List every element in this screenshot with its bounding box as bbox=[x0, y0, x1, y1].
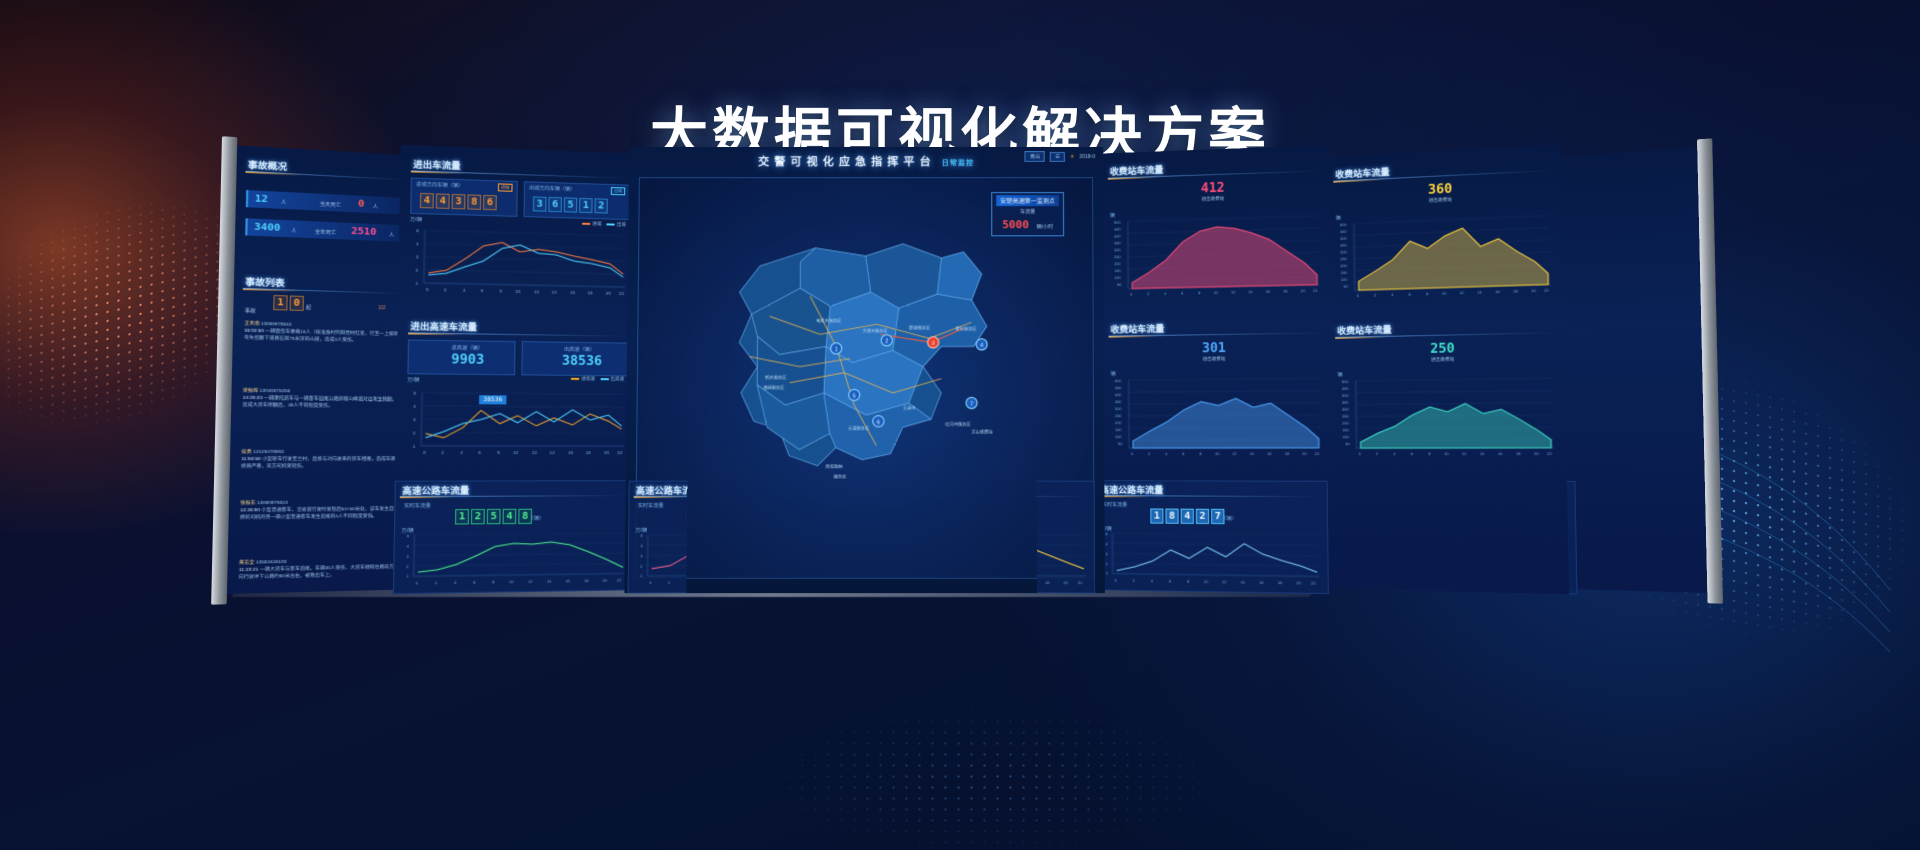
svg-text:20: 20 bbox=[1296, 580, 1302, 585]
svg-text:5: 5 bbox=[853, 393, 856, 399]
menu-chip[interactable]: ☰ bbox=[1050, 152, 1065, 162]
svg-text:5: 5 bbox=[416, 228, 419, 233]
inbound-counter: 进城方向车辆（辆） 进城 4 4 3 8 6 bbox=[410, 177, 518, 216]
inout-vehicle-flow-card: 进出车流量 进城方向车辆（辆） 进城 4 4 3 8 6 出城方向车辆（辆） bbox=[404, 155, 632, 313]
year-accident-unit: 人 bbox=[291, 227, 297, 234]
svg-text:14: 14 bbox=[547, 578, 553, 583]
map-label: 鹤庆服务区 bbox=[765, 374, 786, 380]
year-accident-count: 3400 bbox=[254, 222, 281, 234]
svg-text:400: 400 bbox=[1340, 236, 1348, 241]
toll-station-title: 收费站车流量 bbox=[1337, 323, 1392, 337]
today-accident-count: 12 bbox=[255, 193, 268, 205]
svg-text:150: 150 bbox=[1115, 427, 1122, 432]
svg-text:22: 22 bbox=[619, 291, 625, 296]
svg-text:0: 0 bbox=[649, 580, 652, 585]
svg-text:18: 18 bbox=[1513, 288, 1518, 293]
accident-text: 一辆摩托货车与一辆客车追尾公路斜坡山峰道对边发生侧翻，造成大货车侧翻后，38人不… bbox=[242, 395, 396, 408]
svg-text:3: 3 bbox=[640, 553, 643, 558]
svg-text:22: 22 bbox=[617, 450, 623, 455]
toll-station-value: 412 bbox=[1104, 177, 1324, 199]
accident-phone: 13553426193 bbox=[256, 559, 287, 565]
svg-text:100: 100 bbox=[1114, 275, 1121, 280]
svg-text:2: 2 bbox=[1133, 578, 1135, 583]
accident-time: 12:25:50 bbox=[240, 507, 260, 512]
svg-text:4: 4 bbox=[463, 288, 466, 293]
svg-text:450: 450 bbox=[1114, 227, 1121, 232]
svg-text:2: 2 bbox=[640, 564, 643, 569]
svg-text:20: 20 bbox=[1302, 451, 1308, 456]
highway-flow-chart: 5 4 3 2 1 024 6810 121416 182022 bbox=[406, 386, 628, 466]
svg-text:0: 0 bbox=[1115, 578, 1118, 583]
svg-text:200: 200 bbox=[1342, 420, 1350, 425]
accident-count-label: 事故 bbox=[245, 308, 256, 314]
svg-text:10: 10 bbox=[1213, 290, 1218, 295]
svg-text:250: 250 bbox=[1340, 256, 1348, 261]
svg-text:150: 150 bbox=[1340, 270, 1348, 275]
svg-text:14: 14 bbox=[551, 290, 557, 295]
svg-text:350: 350 bbox=[1115, 399, 1122, 404]
vehicle-flow-chart: 5 4 3 2 1 024 6810 121416 182022 bbox=[409, 224, 630, 307]
accident-time: 11:10:21 bbox=[239, 567, 259, 573]
accident-text: 一辆面包车乘载15人（核准备村列阳党村红星，行至一上坡转弯失控翻下道路石岗75米… bbox=[244, 328, 399, 342]
video-wall: 事故概况 12 人 当天死亡 0 人 3400 人 全年死亡 2510 人 bbox=[238, 150, 1698, 590]
svg-text:16: 16 bbox=[570, 290, 576, 295]
svg-text:2: 2 bbox=[413, 430, 416, 435]
svg-text:18: 18 bbox=[1516, 451, 1521, 456]
date-label: 2018-0 bbox=[1079, 154, 1095, 160]
svg-text:0: 0 bbox=[1131, 451, 1134, 456]
map-label: 甸尾乡服务区 bbox=[816, 317, 841, 323]
toll-station-card-1: 收费站车流量 412 进出收费站 辆 50 bbox=[1104, 155, 1326, 313]
svg-text:20: 20 bbox=[1063, 580, 1068, 585]
svg-text:18: 18 bbox=[1278, 580, 1284, 585]
svg-text:8: 8 bbox=[492, 579, 495, 584]
svg-text:3: 3 bbox=[416, 254, 419, 259]
svg-text:4: 4 bbox=[1393, 451, 1396, 456]
svg-text:8: 8 bbox=[1426, 291, 1428, 296]
online-rate-item-bus[interactable]: 80% 在线率 班线客车 50000 bbox=[1331, 504, 1405, 588]
svg-text:4: 4 bbox=[640, 543, 643, 548]
online-rate-name: 班线客车 bbox=[1332, 574, 1405, 582]
svg-text:20: 20 bbox=[1531, 288, 1537, 293]
toll-station-readout: 301 进出收费站 bbox=[1105, 340, 1327, 364]
list-item[interactable]: 黄志全 13553426193 11:10:21 一辆大货车与客车追尾。车辆30… bbox=[239, 556, 395, 581]
svg-text:3: 3 bbox=[932, 341, 935, 347]
panel-group-left-outer: 事故概况 12 人 当天死亡 0 人 3400 人 全年死亡 2510 人 bbox=[225, 145, 416, 594]
accident-time: 14:25:23 bbox=[243, 395, 263, 400]
highway-flow-chart-4: 54 321 02 468 101214 161820 22 bbox=[1098, 531, 1323, 591]
svg-text:50: 50 bbox=[1344, 284, 1349, 289]
svg-text:1: 1 bbox=[835, 347, 838, 353]
svg-text:6: 6 bbox=[481, 288, 484, 293]
svg-text:4: 4 bbox=[1391, 292, 1394, 297]
today-death-label: 当天死亡 bbox=[320, 201, 341, 209]
highway-flow-unit: （辆） bbox=[1221, 515, 1236, 522]
svg-text:16: 16 bbox=[1498, 451, 1503, 456]
svg-text:2: 2 bbox=[1106, 561, 1108, 566]
svg-text:6: 6 bbox=[1181, 290, 1184, 295]
highway-flow-digits: 12 54 8 bbox=[455, 509, 532, 525]
svg-text:10: 10 bbox=[515, 289, 521, 294]
today-death-unit: 人 bbox=[373, 203, 378, 210]
toll-station-card-2: 收费站车流量 360 进出收费站 辆 50 bbox=[1329, 155, 1557, 315]
svg-text:50: 50 bbox=[1118, 441, 1123, 446]
svg-text:8: 8 bbox=[1428, 451, 1430, 456]
year-death-label: 全年死亡 bbox=[315, 228, 337, 236]
svg-text:5: 5 bbox=[407, 533, 410, 538]
svg-text:2: 2 bbox=[1374, 293, 1376, 298]
svg-text:150: 150 bbox=[1342, 427, 1350, 432]
svg-text:200: 200 bbox=[1340, 263, 1348, 268]
svg-text:350: 350 bbox=[1114, 240, 1121, 245]
svg-text:6: 6 bbox=[877, 420, 880, 426]
svg-text:2: 2 bbox=[885, 339, 888, 345]
map-label: 西双版纳 bbox=[826, 463, 843, 469]
svg-text:450: 450 bbox=[1340, 229, 1348, 234]
toll-station-title: 收费站车流量 bbox=[1110, 322, 1164, 336]
svg-text:14: 14 bbox=[1480, 451, 1486, 456]
topbar: 南山 ☰ ☀ 2018-0 bbox=[1025, 151, 1095, 162]
svg-text:3: 3 bbox=[413, 417, 416, 422]
highway-metric-label: 实时车流量 bbox=[638, 502, 664, 509]
svg-text:8: 8 bbox=[500, 288, 503, 293]
svg-text:18: 18 bbox=[1283, 288, 1288, 293]
svg-text:1: 1 bbox=[640, 573, 643, 578]
svg-text:2: 2 bbox=[1376, 451, 1378, 456]
svg-text:50: 50 bbox=[1117, 282, 1122, 287]
map-label: 楚雄服务区 bbox=[909, 324, 930, 330]
svg-text:250: 250 bbox=[1114, 254, 1121, 259]
accident-text: 一辆大货车与客车追尾。车辆30人受伤，大货车继续往路段方向行驶冲下公路约60米左… bbox=[239, 564, 394, 580]
svg-text:300: 300 bbox=[1342, 407, 1350, 412]
inbound-label: 进城方向车辆（辆） bbox=[416, 181, 464, 190]
mode-badge[interactable]: 日常监控 bbox=[942, 159, 974, 167]
svg-text:3: 3 bbox=[1105, 551, 1108, 556]
svg-text:18: 18 bbox=[1285, 451, 1290, 456]
svg-text:250: 250 bbox=[1342, 414, 1350, 419]
svg-text:14: 14 bbox=[1248, 289, 1253, 294]
list-item[interactable]: 王禾南 13659678542 15:02:50 一辆面包车乘载15人（核准备村… bbox=[244, 319, 399, 344]
svg-text:100: 100 bbox=[1340, 277, 1348, 282]
bottom-particle-field bbox=[640, 650, 1340, 850]
svg-text:3: 3 bbox=[406, 554, 409, 559]
svg-text:5: 5 bbox=[641, 533, 644, 538]
highway-metric-label: 实时车流量 bbox=[1102, 501, 1127, 508]
svg-text:350: 350 bbox=[1342, 400, 1350, 405]
map-label: 服务区 bbox=[834, 473, 847, 479]
svg-text:300: 300 bbox=[1115, 406, 1122, 411]
year-death-count: 2510 bbox=[351, 226, 377, 238]
svg-text:8: 8 bbox=[1198, 290, 1201, 295]
highway-flow-chart-1: 54 321 02 468 101214 161820 22 bbox=[398, 531, 629, 591]
svg-text:300: 300 bbox=[1114, 247, 1121, 252]
svg-text:50: 50 bbox=[1345, 441, 1350, 446]
accident-reporter-name: 梁振辉 bbox=[243, 388, 258, 393]
svg-text:2: 2 bbox=[441, 450, 444, 455]
map-label: 红河州服务区 bbox=[945, 420, 970, 426]
toll-station-chart-2: 500450400 350300250 200150100 50 024 681… bbox=[1334, 211, 1555, 310]
svg-text:400: 400 bbox=[1342, 393, 1350, 398]
svg-text:10: 10 bbox=[1442, 290, 1448, 295]
toll-y-unit: 辆 bbox=[1338, 371, 1343, 378]
svg-text:0: 0 bbox=[1357, 293, 1360, 298]
svg-text:12: 12 bbox=[1231, 289, 1236, 294]
map-label: 元谋服务区 bbox=[848, 424, 869, 430]
svg-text:4: 4 bbox=[416, 241, 419, 246]
svg-text:0: 0 bbox=[1359, 451, 1362, 456]
panel-group-center: 交警可视化应急指挥平台日常监控 南山 ☰ ☀ 2018-0 bbox=[624, 147, 1105, 593]
svg-text:4: 4 bbox=[1105, 541, 1108, 546]
toll-station-readout: 360 进出收费站 bbox=[1329, 177, 1555, 208]
svg-text:18: 18 bbox=[587, 290, 593, 295]
map-label: 曲靖服务区 bbox=[763, 384, 784, 390]
svg-text:500: 500 bbox=[1342, 379, 1350, 384]
highway-inbound-value: 9903 bbox=[451, 352, 484, 368]
today-death-count: 0 bbox=[358, 199, 365, 210]
accident-list-pagination[interactable]: 1/2 bbox=[378, 305, 385, 311]
svg-text:4: 4 bbox=[413, 404, 416, 409]
online-rate-title: 两客一危在线率 bbox=[1331, 483, 1395, 496]
toll-station-chart-1: 500450400 350300250 200150100 50 024 681… bbox=[1108, 212, 1324, 309]
svg-text:22: 22 bbox=[617, 577, 622, 582]
svg-text:14: 14 bbox=[1240, 579, 1245, 584]
svg-text:450: 450 bbox=[1115, 385, 1122, 390]
toll-station-card-4: 收费站车流量 250 进出收费站 辆 50 bbox=[1331, 317, 1560, 473]
svg-text:350: 350 bbox=[1340, 242, 1348, 247]
list-item[interactable]: 侯勇 13126478963 11:50:50 小型轿车行驶至兰村，直接与对向驶… bbox=[241, 448, 397, 470]
svg-text:22: 22 bbox=[1078, 580, 1083, 585]
svg-text:500: 500 bbox=[1340, 222, 1348, 227]
highway-inbound-counter: 进高速（辆） 9903 bbox=[407, 340, 515, 376]
online-rate-pct-label: 在线率 bbox=[1331, 517, 1404, 524]
svg-text:100: 100 bbox=[1115, 434, 1122, 439]
location-chip[interactable]: 南山 bbox=[1025, 151, 1045, 162]
toll-station-readout: 412 进出收费站 bbox=[1104, 177, 1325, 205]
svg-text:400: 400 bbox=[1115, 392, 1122, 397]
vehicle-flow-legend: 进城 出城 bbox=[582, 221, 626, 228]
highway-flow-digits: 18 42 7 bbox=[1150, 508, 1224, 524]
svg-text:2: 2 bbox=[416, 268, 419, 273]
accident-reporter-name: 黄志全 bbox=[239, 559, 254, 564]
svg-text:22: 22 bbox=[1313, 288, 1318, 293]
svg-text:0: 0 bbox=[426, 287, 429, 292]
accident-time: 11:50:50 bbox=[241, 456, 261, 461]
svg-text:20: 20 bbox=[1534, 451, 1540, 456]
highway-flow-card-1: 高速公路车流量 实时车流量 12 54 8 （辆） 万/辆 54 321 bbox=[393, 480, 635, 594]
svg-text:6: 6 bbox=[1409, 292, 1411, 297]
svg-text:500: 500 bbox=[1114, 220, 1121, 225]
vehicle-flow-y-unit: 万/辆 bbox=[410, 216, 422, 223]
svg-text:450: 450 bbox=[1342, 386, 1350, 391]
sun-icon: ☀ bbox=[1070, 154, 1075, 160]
online-rate-count: 50000 bbox=[1332, 579, 1405, 588]
dashboard-title: 交警可视化应急指挥平台 bbox=[758, 155, 936, 168]
svg-text:250: 250 bbox=[1115, 413, 1122, 418]
svg-text:4: 4 bbox=[1164, 291, 1167, 296]
svg-text:4: 4 bbox=[454, 580, 457, 585]
highway-flow-card-4: 高速公路车流量 实时车流量 18 42 7 （辆） 万/辆 54 321 bbox=[1093, 480, 1329, 594]
svg-text:22: 22 bbox=[1311, 580, 1316, 585]
map-label: 大理州服务区 bbox=[863, 327, 888, 333]
highway-flow-y-unit: 万/辆 bbox=[407, 376, 419, 383]
accident-overview-title: 事故概况 bbox=[248, 158, 288, 173]
svg-text:12: 12 bbox=[528, 579, 533, 584]
svg-text:20: 20 bbox=[1301, 288, 1306, 293]
year-death-unit: 人 bbox=[389, 232, 394, 239]
highway-flow-tooltip: 38536 bbox=[479, 395, 506, 404]
svg-text:8: 8 bbox=[1187, 579, 1190, 584]
online-rate-pct: 80% bbox=[1331, 504, 1404, 518]
toll-y-unit: 辆 bbox=[1111, 370, 1116, 377]
svg-text:400: 400 bbox=[1114, 233, 1121, 238]
svg-text:200: 200 bbox=[1114, 261, 1121, 266]
svg-text:16: 16 bbox=[1495, 289, 1500, 294]
svg-text:10: 10 bbox=[1203, 579, 1208, 584]
outbound-label: 出城方向车辆（辆） bbox=[529, 184, 575, 192]
svg-text:2: 2 bbox=[444, 287, 447, 292]
svg-text:6: 6 bbox=[1169, 578, 1172, 583]
svg-text:150: 150 bbox=[1114, 268, 1121, 273]
svg-text:16: 16 bbox=[1265, 289, 1270, 294]
svg-text:4: 4 bbox=[980, 343, 983, 349]
svg-text:16: 16 bbox=[1259, 580, 1264, 585]
inout-vehicle-flow-title: 进出车流量 bbox=[413, 157, 461, 172]
svg-text:14: 14 bbox=[1477, 289, 1483, 294]
svg-text:18: 18 bbox=[585, 450, 591, 455]
svg-text:20: 20 bbox=[604, 450, 610, 455]
map-label: 玉溪市 bbox=[903, 404, 916, 410]
svg-text:100: 100 bbox=[1342, 434, 1350, 439]
list-item[interactable]: 梁振辉 13046675256 14:25:23 一辆摩托货车与一辆客车追尾公路… bbox=[242, 387, 397, 410]
svg-text:10: 10 bbox=[1215, 451, 1220, 456]
map-label: 文山收费站 bbox=[972, 428, 993, 434]
svg-text:200: 200 bbox=[1115, 420, 1122, 425]
svg-text:22: 22 bbox=[1544, 287, 1549, 292]
svg-text:0: 0 bbox=[423, 450, 426, 455]
svg-text:2: 2 bbox=[668, 580, 671, 585]
poster-stage: 大数据可视化解决方案 事故概况 12 人 当天死亡 0 人 3400 bbox=[0, 0, 1920, 850]
map-container[interactable]: 1 2 3 4 5 6 7 甸尾 bbox=[635, 177, 1095, 579]
svg-text:2: 2 bbox=[1147, 291, 1149, 296]
svg-text:6: 6 bbox=[1411, 451, 1413, 456]
accident-time: 15:02:50 bbox=[244, 328, 264, 334]
svg-text:500: 500 bbox=[1115, 378, 1122, 383]
svg-text:1: 1 bbox=[1106, 570, 1108, 575]
map-label: 蒙化服务区 bbox=[955, 325, 976, 331]
today-accident-unit: 人 bbox=[281, 199, 287, 206]
bus-icon bbox=[1345, 525, 1390, 570]
svg-text:18: 18 bbox=[1045, 580, 1050, 585]
toll-station-chart-3: 500450400 350300250 200150100 50 024 681… bbox=[1109, 374, 1326, 468]
svg-text:20: 20 bbox=[602, 578, 607, 583]
svg-text:300: 300 bbox=[1340, 249, 1348, 254]
svg-text:4: 4 bbox=[1151, 578, 1154, 583]
highway-flow-unit: （辆） bbox=[529, 515, 545, 522]
svg-text:7: 7 bbox=[970, 401, 973, 407]
svg-text:5: 5 bbox=[1105, 531, 1108, 536]
svg-text:20: 20 bbox=[606, 291, 612, 296]
highway-inbound-label: 进高速（辆） bbox=[451, 344, 483, 351]
accident-reporter-name: 张振东 bbox=[240, 500, 255, 505]
accident-text: 小型轿车行驶至兰村，直接与对向驶来的货车相撞，造成车辆损毁严重，双方司机受轻伤。 bbox=[241, 456, 395, 468]
svg-text:12: 12 bbox=[1222, 579, 1227, 584]
svg-text:0: 0 bbox=[1130, 292, 1133, 297]
svg-text:18: 18 bbox=[584, 578, 589, 583]
